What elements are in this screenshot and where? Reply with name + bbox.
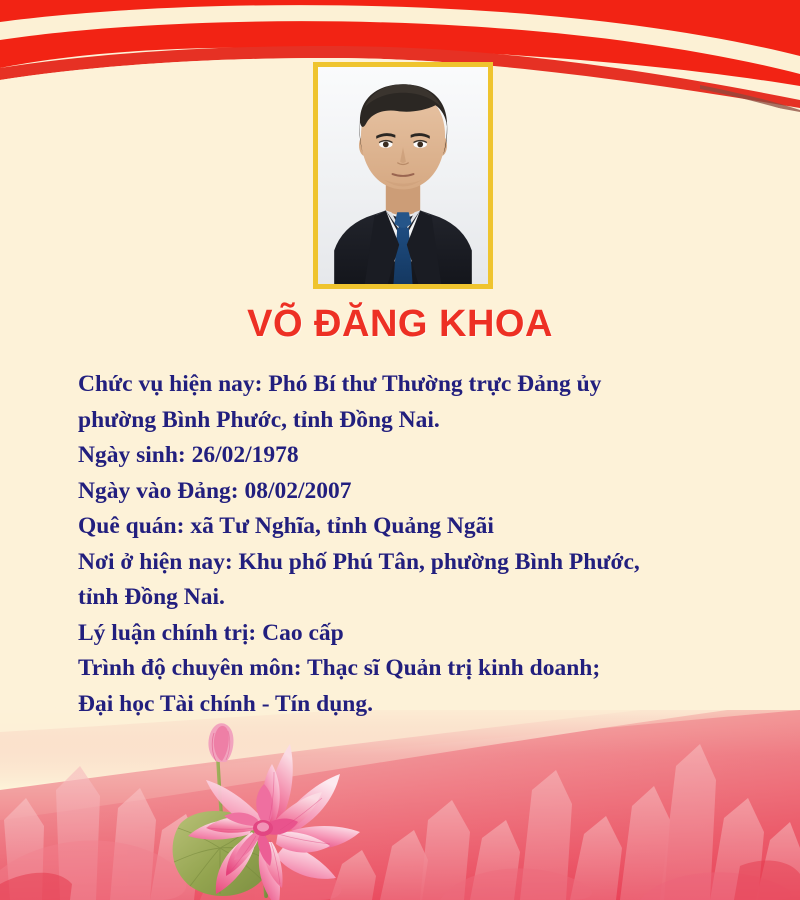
- bio-text-block: Chức vụ hiện nay: Phó Bí thư Thường trực…: [78, 367, 730, 722]
- page-title: VÕ ĐĂNG KHOA: [0, 303, 800, 346]
- bio-line: Quê quán: xã Tư Nghĩa, tỉnh Quảng Ngãi: [78, 509, 730, 545]
- profile-card: VÕ ĐĂNG KHOA Chức vụ hiện nay: Phó Bí th…: [0, 0, 800, 900]
- bio-line: Ngày vào Đảng: 08/02/2007: [78, 474, 730, 510]
- portrait-frame: [313, 62, 493, 289]
- bio-line: Lý luận chính trị: Cao cấp: [78, 616, 730, 652]
- bio-line: tỉnh Đồng Nai.: [78, 580, 730, 616]
- bio-line: Ngày sinh: 26/02/1978: [78, 438, 730, 474]
- bio-line: Nơi ở hiện nay: Khu phố Phú Tân, phường …: [78, 545, 730, 581]
- bio-line: phường Bình Phước, tỉnh Đồng Nai.: [78, 403, 730, 439]
- bio-line: Chức vụ hiện nay: Phó Bí thư Thường trực…: [78, 367, 730, 403]
- bio-line: Trình độ chuyên môn: Thạc sĩ Quản trị ki…: [78, 651, 730, 687]
- bio-line: Đại học Tài chính - Tín dụng.: [78, 687, 730, 723]
- portrait-photo: [318, 67, 488, 284]
- lotus-flower-illustration: [150, 720, 385, 900]
